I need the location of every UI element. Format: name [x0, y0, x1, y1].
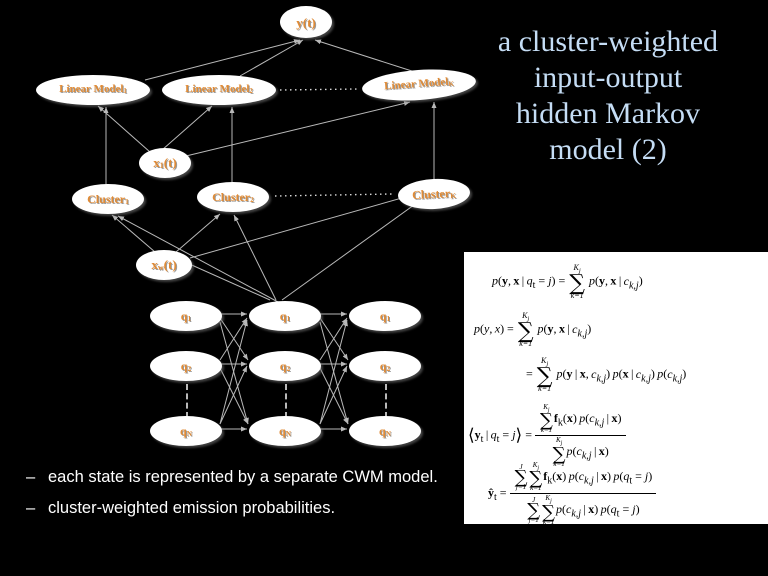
- state-column-2-ellipsis: [285, 384, 289, 418]
- node-label: q2: [181, 360, 191, 373]
- node-linear-model-2[interactable]: Linear Model2: [162, 75, 276, 105]
- node-cluster-1[interactable]: Cluster1: [72, 184, 144, 214]
- node-label: q1: [280, 310, 290, 323]
- summation-symbol: J∑j=1: [527, 497, 540, 524]
- summation-symbol: Kj∑k=1: [518, 312, 534, 348]
- summation-symbol: Kj∑k=1: [569, 264, 585, 300]
- node-label: Linear Model2: [185, 84, 253, 96]
- node-input-xwt[interactable]: xw(t): [136, 250, 192, 280]
- slide-canvas: a cluster-weighted input-output hidden M…: [0, 0, 768, 576]
- graphical-model-diagram: y(t) Linear Model1 Linear Model2 Linear …: [0, 0, 460, 460]
- fraction: J∑j=1Kj∑k=1fk(x) p(ck,j | x) p(qt = j) J…: [510, 462, 657, 524]
- node-state-qn-t1[interactable]: qN: [150, 416, 222, 446]
- node-label: q1: [181, 310, 191, 323]
- node-label: xw(t): [151, 258, 176, 272]
- title-line-2: input-output: [452, 60, 764, 96]
- node-label: ClusterK: [412, 187, 456, 202]
- equation-4: ⟨yt | qt = j⟩ = Kj∑k=1fk(x) p(ck,j | x) …: [468, 404, 626, 468]
- node-linear-model-1[interactable]: Linear Model1: [36, 75, 150, 105]
- fraction: Kj∑k=1fk(x) p(ck,j | x) Kj∑k=1p(ck,j | x…: [535, 404, 626, 468]
- equation-5: ŷt = J∑j=1Kj∑k=1fk(x) p(ck,j | x) p(qt =…: [488, 462, 656, 524]
- node-label: q2: [280, 360, 290, 373]
- node-input-x1t[interactable]: x1(t): [139, 148, 191, 178]
- state-column-3-ellipsis: [385, 384, 389, 418]
- list-item: – cluster-weighted emission probabilitie…: [26, 497, 456, 520]
- node-label: Cluster2: [212, 191, 254, 204]
- node-label: q1: [380, 310, 390, 323]
- node-state-q1-t2[interactable]: q1: [249, 301, 321, 331]
- bullet-list: – each state is represented by a separat…: [26, 466, 456, 528]
- node-state-q2-t3[interactable]: q2: [349, 351, 421, 381]
- node-state-q1-t3[interactable]: q1: [349, 301, 421, 331]
- page-title: a cluster-weighted input-output hidden M…: [452, 24, 764, 168]
- node-output-yt[interactable]: y(t): [280, 6, 332, 38]
- bullet-text: each state is represented by a separate …: [48, 466, 456, 489]
- node-label: q2: [380, 360, 390, 373]
- bullet-marker: –: [26, 497, 48, 520]
- node-state-q2-t2[interactable]: q2: [249, 351, 321, 381]
- node-label: qN: [379, 425, 391, 438]
- equation-panel: p(y, x | qt = j) = Kj∑k=1 p(y, x | ck,j)…: [464, 252, 768, 524]
- equation-3: = Kj∑k=1 p(y | x, ck,j) p(x | ck,j) p(ck…: [526, 357, 686, 393]
- summation-symbol: Kj∑k=1: [537, 357, 553, 393]
- node-state-q2-t1[interactable]: q2: [150, 351, 222, 381]
- equation-2: p(y, x) = Kj∑k=1 p(y, x | ck,j): [474, 312, 591, 348]
- node-label: Cluster1: [87, 193, 129, 206]
- summation-symbol: Kj∑k=1: [540, 404, 553, 434]
- node-label: Linear ModelK: [384, 77, 454, 94]
- node-label: x1(t): [153, 156, 177, 170]
- node-label: qN: [180, 425, 192, 438]
- node-label: qN: [279, 425, 291, 438]
- node-state-qn-t2[interactable]: qN: [249, 416, 321, 446]
- state-column-1-ellipsis: [186, 384, 190, 418]
- node-state-q1-t1[interactable]: q1: [150, 301, 222, 331]
- bullet-marker: –: [26, 466, 48, 489]
- node-state-qn-t3[interactable]: qN: [349, 416, 421, 446]
- summation-symbol: Kj∑k=1: [529, 462, 542, 492]
- node-label: y(t): [296, 16, 316, 29]
- equation-1: p(y, x | qt = j) = Kj∑k=1 p(y, x | ck,j): [492, 264, 643, 300]
- bullet-text: cluster-weighted emission probabilities.: [48, 497, 456, 520]
- summation-symbol: J∑j=1: [515, 464, 528, 491]
- title-line-1: a cluster-weighted: [452, 24, 764, 60]
- title-line-4: model (2): [452, 132, 764, 168]
- diagram-edges: [0, 0, 460, 460]
- title-line-3: hidden Markov: [452, 96, 764, 132]
- node-label: Linear Model1: [59, 84, 127, 96]
- summation-symbol: Kj∑k=1: [542, 495, 555, 524]
- node-cluster-2[interactable]: Cluster2: [197, 182, 269, 212]
- list-item: – each state is represented by a separat…: [26, 466, 456, 489]
